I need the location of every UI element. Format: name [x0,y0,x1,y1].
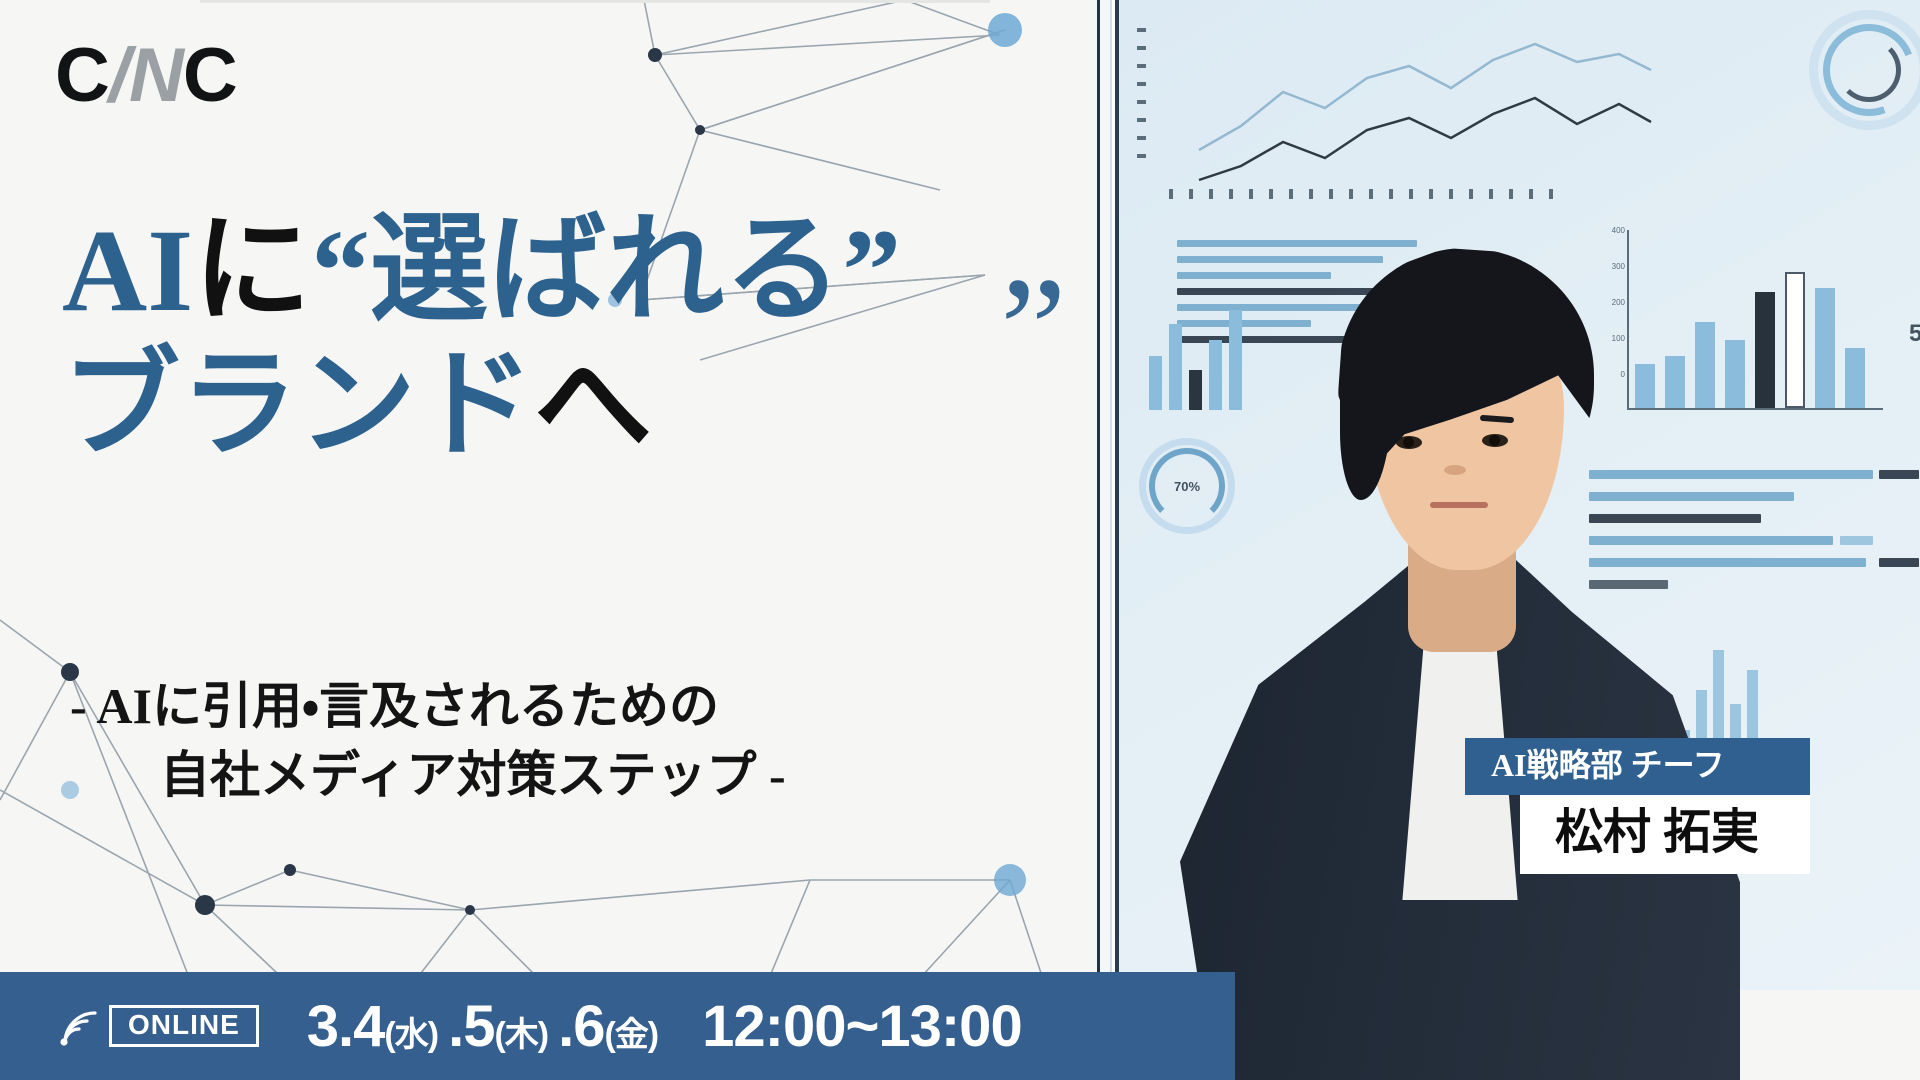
speaker-eye-right [1482,434,1508,447]
event-date-3: .6 [558,993,604,1060]
footer-bar: ONLINE 3.4 (水) .5 (木) .6 (金) 12:00~13:00 [0,972,1235,1080]
network-graphic [0,0,1080,1080]
background-gauge-50-label: 50% [1909,320,1920,348]
headline: AIに“選ばれる” ブランドへ [62,208,1062,468]
event-date-2: .5 [448,993,494,1060]
speaker-name: 松村 拓実 [1520,795,1810,874]
headline-brand: ブランド [62,340,534,471]
subtitle-line-2: 自社メディア対策ステップ - [70,741,1070,810]
subtitle-line-1: - AIに引用・言及されるための [70,672,1070,741]
logo-letter-c2: C [183,38,237,114]
event-time-range: 12:00~13:00 [702,993,1022,1060]
online-label: ONLINE [109,1005,259,1048]
cinc-logo[interactable]: C /N C [55,38,237,114]
headline-ai: AI [62,205,193,336]
event-date-1: 3.4 [307,993,385,1060]
broadcast-wifi-icon [55,1003,101,1049]
speaker-role: AI戦略部 チーフ [1465,738,1810,795]
logo-letters-in: /N [109,38,183,114]
online-badge: ONLINE [55,1003,259,1049]
headline-erabareru: “選ばれる” [311,205,901,336]
speaker-portrait [1180,150,1740,1080]
top-hairline-divider [200,0,990,3]
background-donut-gauge-top [1809,10,1920,130]
headline-he: へ [534,340,652,471]
logo-letter-c1: C [55,38,109,114]
speaker-nameplate: AI戦略部 チーフ 松村 拓実 [1465,738,1810,874]
headline-ni: に [193,205,311,336]
speaker-mouth [1430,502,1488,508]
speaker-nose [1444,465,1466,475]
event-dates: 3.4 (水) .5 (木) .6 (金) [307,993,658,1060]
event-date-3-weekday: (金) [604,1007,658,1056]
event-date-1-weekday: (水) [384,1007,438,1056]
line-chart-y-ticks [1137,28,1145,188]
headline-line-2: ブランドへ [62,343,1062,468]
webinar-banner: 400 300 200 100 0 [0,0,1920,1080]
subtitle: - AIに引用・言及されるための 自社メディア対策ステップ - [70,672,1070,810]
event-date-2-weekday: (木) [494,1007,548,1056]
headline-line-1: AIに“選ばれる” [62,208,1062,333]
